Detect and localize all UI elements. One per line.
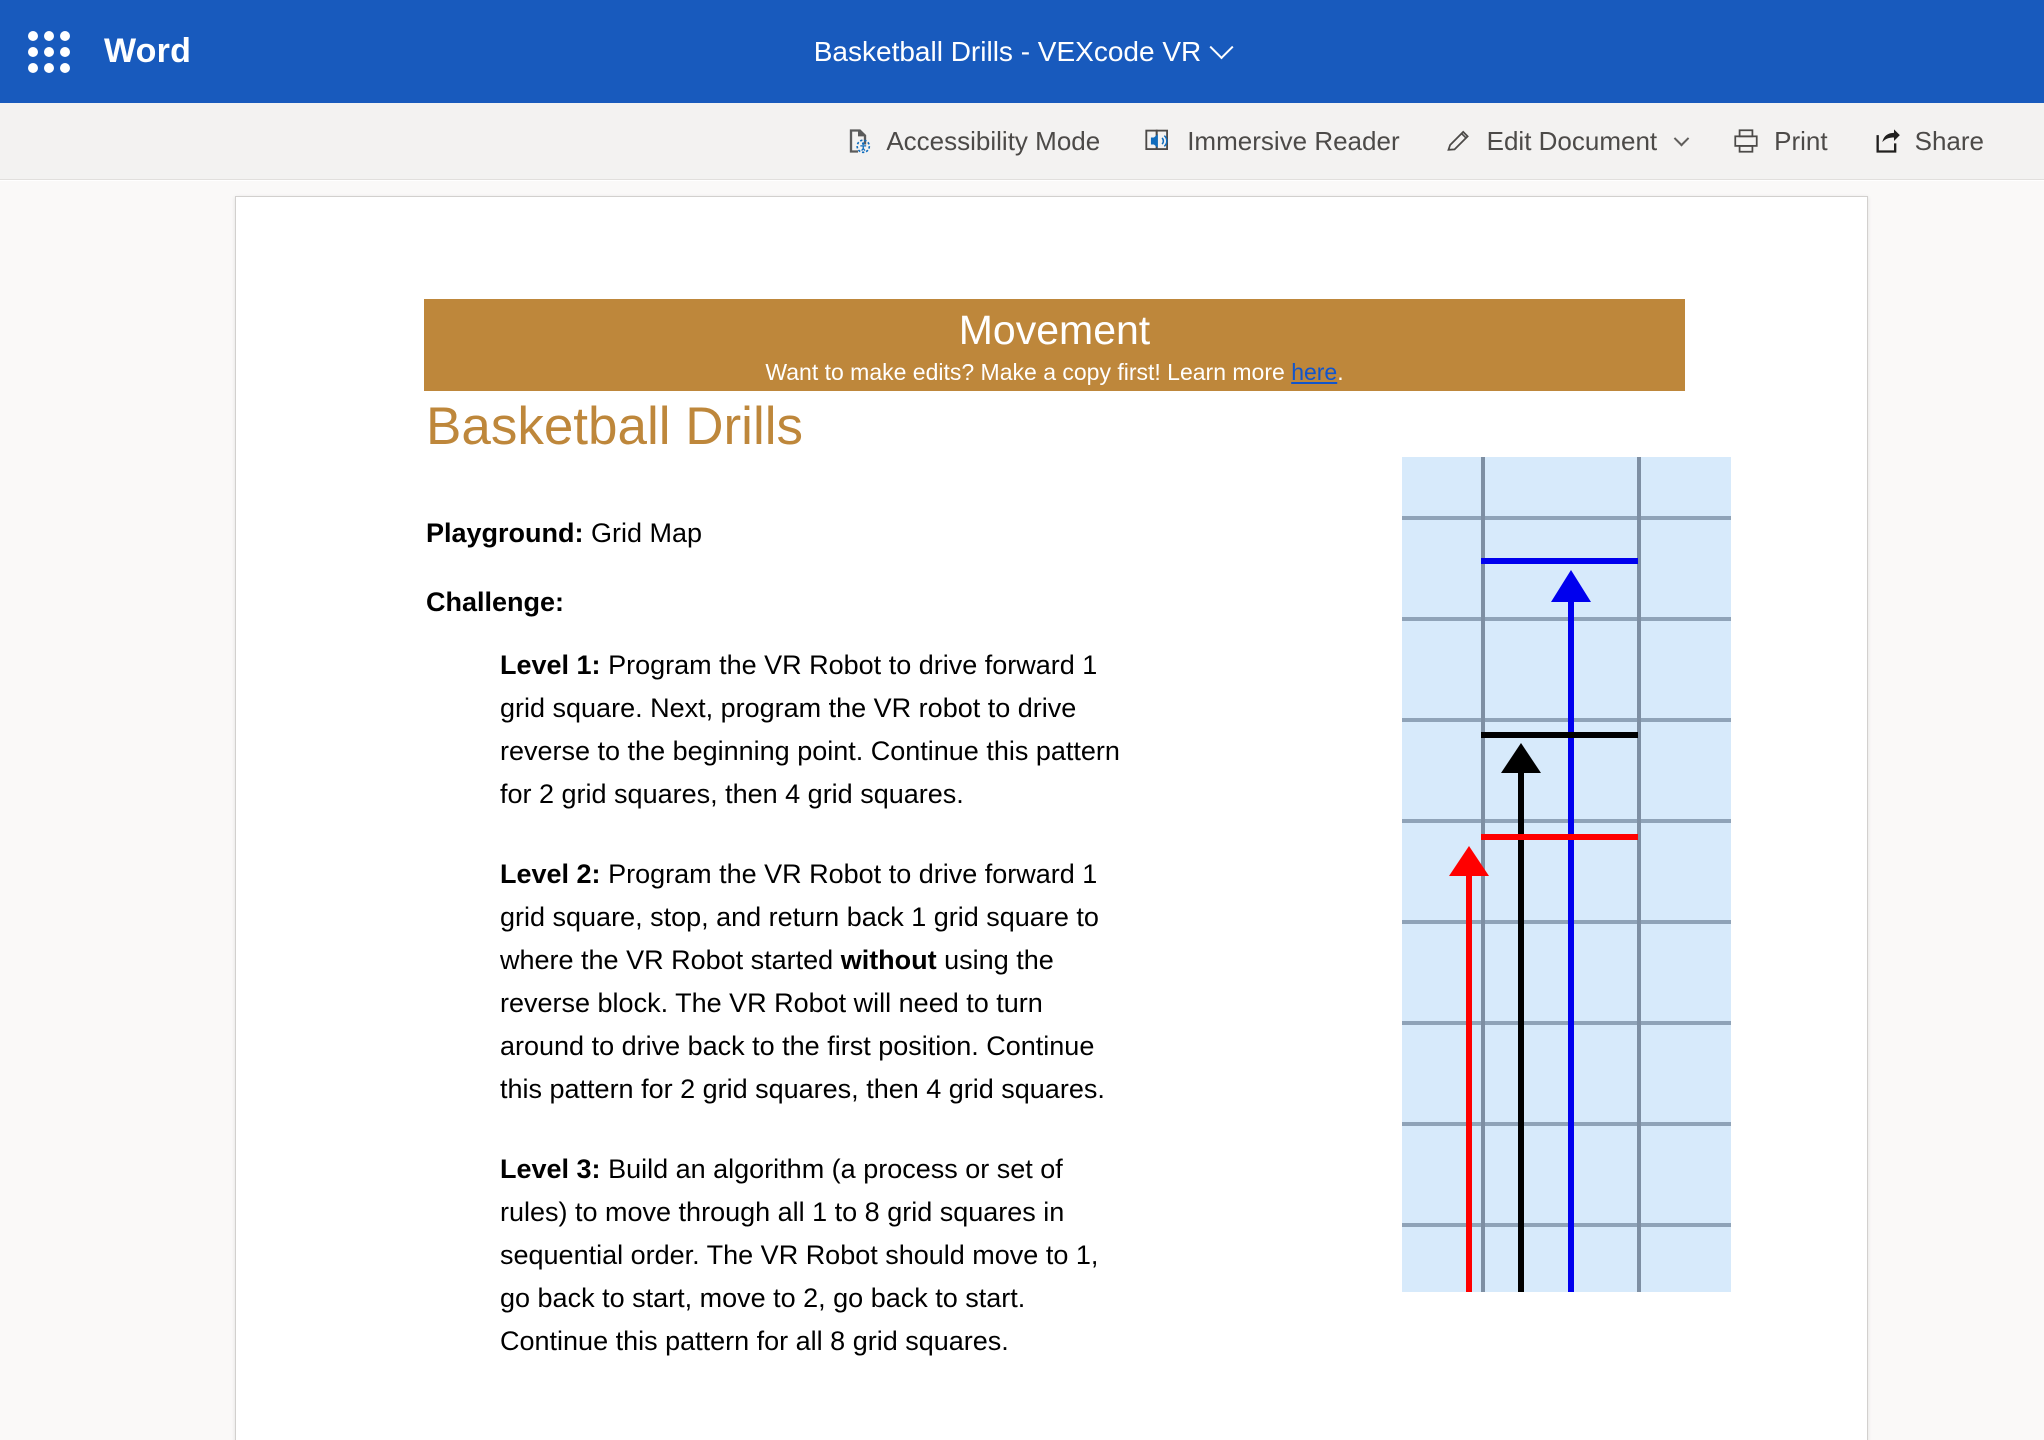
gridline-horizontal (1402, 1122, 1731, 1126)
app-launcher-icon[interactable] (18, 31, 80, 73)
banner-subtitle-period: . (1337, 359, 1343, 385)
level-2-bold-without: without (841, 945, 937, 975)
share-label: Share (1915, 126, 1984, 157)
blue-arrow-shaft (1568, 597, 1574, 1292)
playground-label: Playground: (426, 518, 584, 548)
blue-end-line (1481, 558, 1638, 564)
accessibility-document-icon (843, 126, 873, 156)
playground-value: Grid Map (584, 518, 703, 548)
level-3-paragraph: Level 3: Build an algorithm (a process o… (500, 1148, 1126, 1363)
red-arrow-head (1449, 846, 1489, 876)
share-button[interactable]: Share (1850, 113, 2006, 169)
banner-subtitle-text: Want to make edits? Make a copy first! L… (765, 359, 1291, 385)
level-3-text: Build an algorithm (a process or set of … (500, 1154, 1098, 1356)
gridline-horizontal (1402, 516, 1731, 520)
black-arrow-shaft (1518, 769, 1524, 1292)
red-end-line (1481, 834, 1638, 840)
challenge-label: Challenge: (426, 581, 1156, 624)
immersive-reader-label: Immersive Reader (1187, 126, 1399, 157)
edit-document-label: Edit Document (1487, 126, 1658, 157)
accessibility-mode-button[interactable]: Accessibility Mode (821, 113, 1122, 169)
blue-arrow-head (1551, 570, 1591, 602)
grid-map-diagram (1402, 457, 1731, 1292)
level-1-label: Level 1: (500, 650, 601, 680)
level-2-paragraph: Level 2: Program the VR Robot to drive f… (500, 853, 1126, 1111)
edit-document-button[interactable]: Edit Document (1422, 113, 1710, 169)
level-3-label: Level 3: (500, 1154, 601, 1184)
pencil-icon (1444, 126, 1474, 156)
accessibility-mode-label: Accessibility Mode (886, 126, 1100, 157)
copy-notice-banner: Movement Want to make edits? Make a copy… (424, 299, 1685, 391)
print-label: Print (1774, 126, 1827, 157)
gridline-horizontal (1402, 718, 1731, 722)
document-title-button[interactable]: Basketball Drills - VEXcode VR (804, 30, 1240, 74)
print-button[interactable]: Print (1709, 113, 1849, 169)
level-2-label: Level 2: (500, 859, 601, 889)
document-canvas[interactable]: Movement Want to make edits? Make a copy… (0, 181, 2044, 1440)
page-title: Basketball Drills (426, 396, 803, 458)
gridline-vertical (1637, 457, 1641, 1292)
gridline-horizontal (1402, 819, 1731, 823)
document-title-text: Basketball Drills - VEXcode VR (814, 36, 1201, 68)
gridline-horizontal (1402, 920, 1731, 924)
black-end-line (1481, 732, 1638, 738)
banner-title: Movement (424, 305, 1685, 355)
learn-more-here-link[interactable]: here (1291, 359, 1337, 385)
gridline-horizontal (1402, 1021, 1731, 1025)
printer-icon (1731, 126, 1761, 156)
document-body: Playground: Grid Map Challenge: Level 1:… (426, 512, 1156, 1400)
black-arrow-head (1501, 743, 1541, 773)
gridline-horizontal (1402, 617, 1731, 621)
brand-word-label[interactable]: Word (104, 32, 191, 71)
levels-list: Level 1: Program the VR Robot to drive f… (426, 644, 1126, 1363)
gridline-horizontal (1402, 1223, 1731, 1227)
red-arrow-shaft (1466, 872, 1472, 1292)
banner-subtitle: Want to make edits? Make a copy first! L… (424, 355, 1685, 389)
immersive-reader-button[interactable]: Immersive Reader (1122, 113, 1421, 169)
document-page: Movement Want to make edits? Make a copy… (235, 196, 1868, 1440)
immersive-reader-icon (1144, 126, 1174, 156)
share-arrow-icon (1872, 126, 1902, 156)
level-1-paragraph: Level 1: Program the VR Robot to drive f… (500, 644, 1126, 816)
chevron-down-icon (1674, 130, 1690, 146)
command-bar: Accessibility Mode Immersive Reader Edit… (0, 103, 2044, 180)
chevron-down-icon (1210, 35, 1234, 59)
playground-line: Playground: Grid Map (426, 512, 1156, 555)
